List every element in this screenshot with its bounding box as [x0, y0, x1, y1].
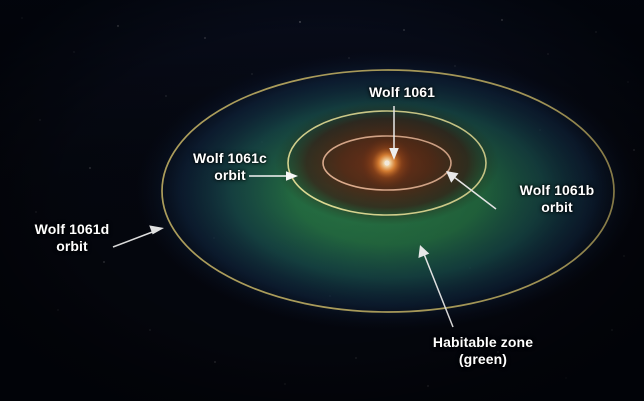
label-wolf-1061b-orbit: Wolf 1061b orbit	[497, 182, 617, 216]
orbit-diagram: Wolf 1061 Wolf 1061c orbit Wolf 1061b or…	[0, 0, 644, 401]
label-wolf-1061d-orbit: Wolf 1061d orbit	[12, 221, 132, 255]
label-wolf-1061c-orbit: Wolf 1061c orbit	[175, 150, 285, 184]
label-habitable-zone: Habitable zone (green)	[398, 334, 568, 368]
label-wolf-1061-star: Wolf 1061	[347, 84, 457, 101]
